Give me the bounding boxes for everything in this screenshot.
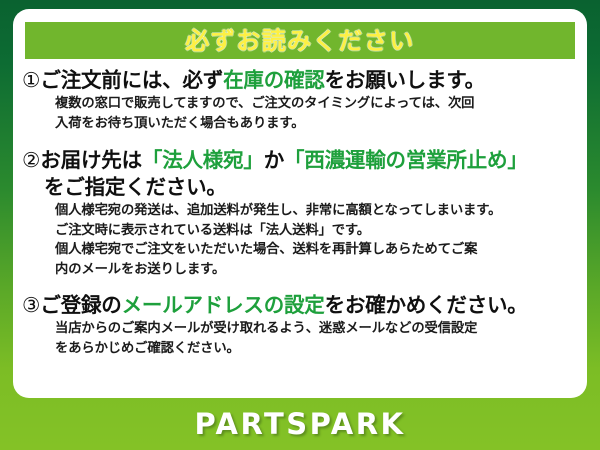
notice-item-1-heading: ①ご注文前には、必ず在庫の確認をお願いします。: [13, 67, 587, 94]
notice-item-2: ②お届け先は「法人様宛」か「西濃運輸の営業所止め」 をご指定ください。 個人様宅…: [13, 147, 587, 279]
notice-item-3-number: ③: [22, 293, 40, 317]
spacer-2: [13, 281, 587, 292]
footer-brand: PARTSPARK: [0, 398, 600, 450]
page-title: 必ずお読みください: [185, 29, 415, 53]
notice-item-2-subline-3: 個人様宅宛でご注文をいただいた場合、送料を再計算しあらためてご案: [13, 240, 587, 260]
notice-banner: 必ずお読みください ①ご注文前には、必ず在庫の確認をお願いします。 複数の窓口で…: [0, 0, 600, 450]
notice-item-1-subline-2: 入荷をお待ち頂いただく場合もあります。: [13, 114, 587, 134]
notice-item-3-subline-2: をあらかじめご確認ください。: [13, 339, 587, 359]
notice-items-list: ①ご注文前には、必ず在庫の確認をお願いします。 複数の窓口で販売してますので、ご…: [13, 67, 587, 360]
notice-item-2-heading-highlight: 「法人様宛」: [142, 148, 264, 172]
notice-item-1-subline-1: 複数の窓口で販売してますので、ご注文のタイミングによっては、次回: [13, 94, 587, 114]
notice-item-1-heading-highlight: 在庫の確認: [223, 68, 325, 92]
notice-item-2-subline-4: 内のメールをお送りします。: [13, 260, 587, 280]
notice-item-2-number: ②: [22, 148, 40, 172]
notice-item-1-heading-before: ご注文前には、必ず: [40, 68, 223, 92]
notice-item-3: ③ご登録のメールアドレスの設定をお確かめください。 当店からのご案内メールが受け…: [13, 292, 587, 358]
notice-item-3-heading: ③ご登録のメールアドレスの設定をお確かめください。: [13, 292, 587, 319]
notice-item-2-subline-1: 個人様宅宛の発送は、追加送料が発生し、非常に高額となってしまいます。: [13, 201, 587, 221]
notice-item-2-heading: ②お届け先は「法人様宛」か「西濃運輸の営業所止め」: [13, 147, 587, 174]
notice-item-1-number: ①: [22, 68, 40, 92]
notice-item-3-heading-before: ご登録の: [40, 293, 121, 317]
notice-item-1-heading-after: をお願いします。: [325, 68, 485, 92]
notice-item-3-heading-highlight: メールアドレスの設定: [122, 293, 325, 317]
notice-card: 必ずお読みください ①ご注文前には、必ず在庫の確認をお願いします。 複数の窓口で…: [13, 9, 587, 398]
title-banner: 必ずお読みください: [25, 22, 575, 59]
notice-item-2-heading-before: お届け先は: [40, 148, 142, 172]
notice-item-3-subline-1: 当店からのご案内メールが受け取れるよう、迷惑メールなどの受信設定: [13, 319, 587, 339]
notice-item-2-heading-middle: か: [264, 148, 284, 172]
notice-item-2-heading-highlight-2: 「西濃運輸の営業所止め」: [284, 148, 528, 172]
notice-item-2-subline-2: ご注文時に表示されている送料は「法人送料」です。: [13, 221, 587, 241]
spacer-1: [13, 135, 587, 147]
brand-name: PARTSPARK: [194, 410, 405, 439]
notice-item-3-heading-after: をお確かめください。: [325, 293, 528, 317]
notice-item-2-heading-line2: をご指定ください。: [13, 174, 587, 201]
notice-item-1: ①ご注文前には、必ず在庫の確認をお願いします。 複数の窓口で販売してますので、ご…: [13, 67, 587, 133]
